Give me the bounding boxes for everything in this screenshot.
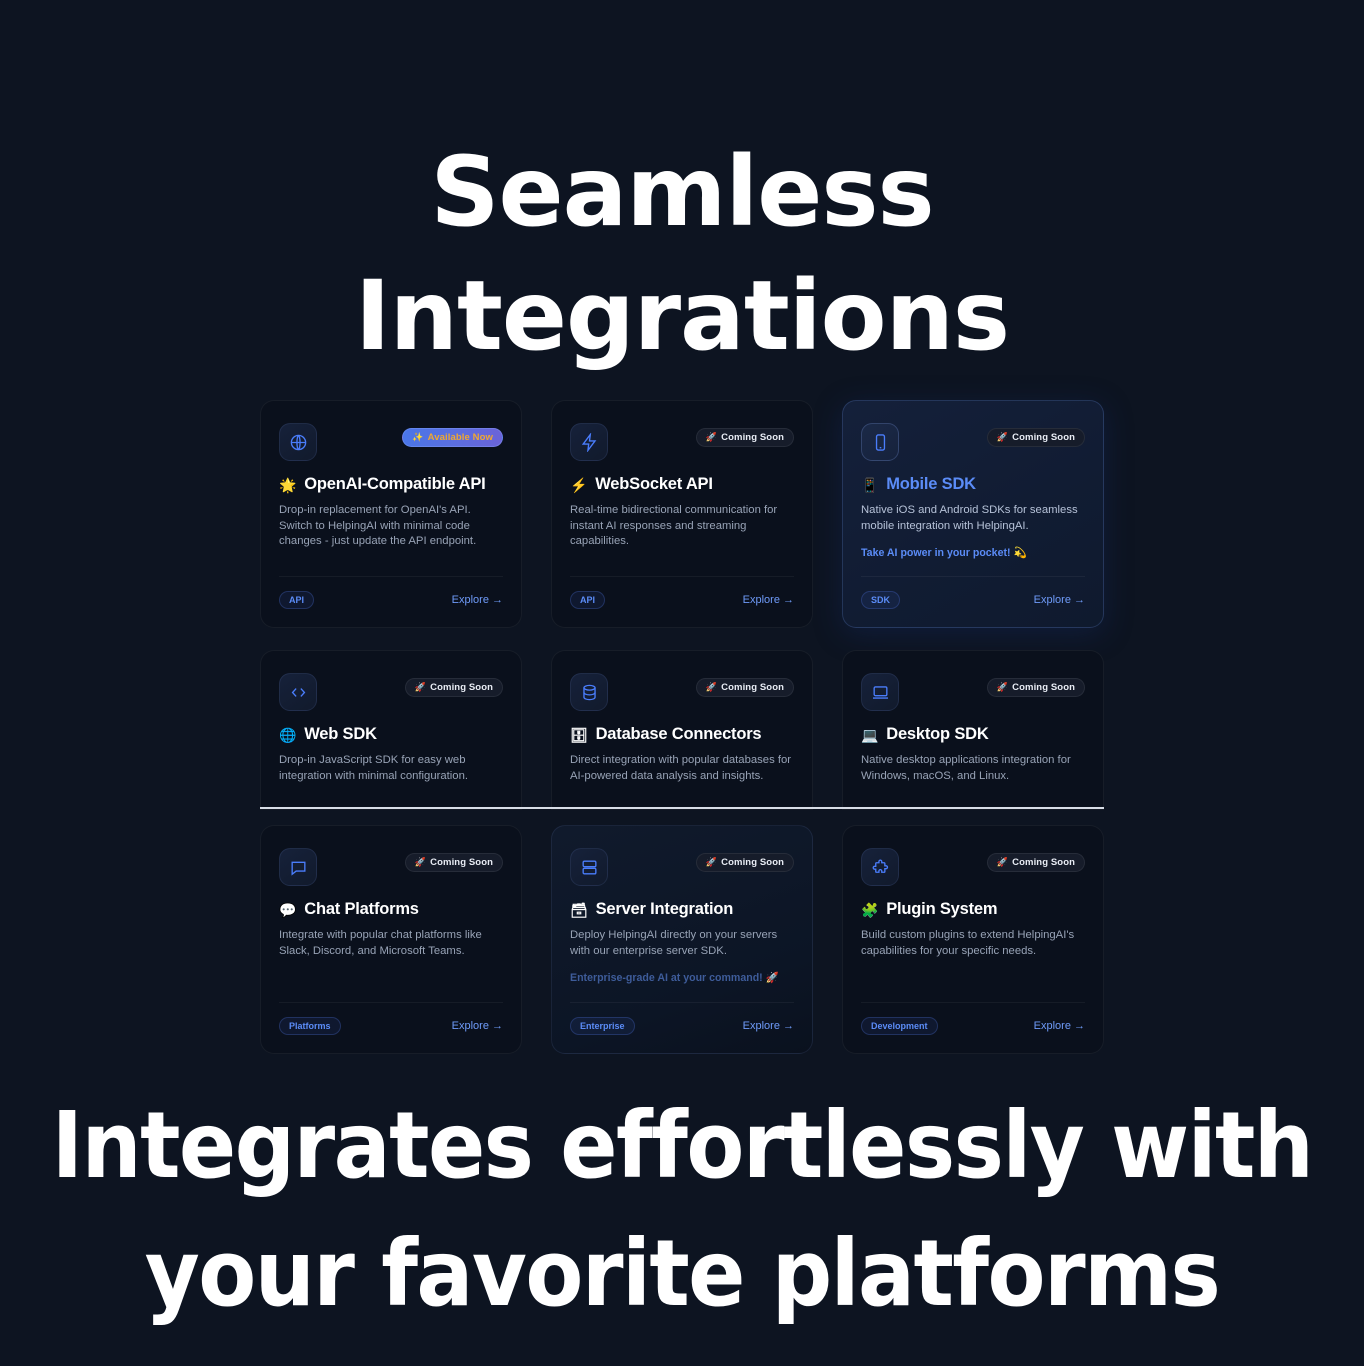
card-title: 💬 Chat Platforms [279,900,503,919]
card-header: 🚀 Coming Soon [570,848,794,892]
rocket-icon: 🚀 [415,858,426,867]
status-badge-label: Coming Soon [1012,682,1075,693]
status-badge-label: Coming Soon [430,682,493,693]
status-badge-coming-soon: 🚀 Coming Soon [987,853,1085,872]
puzzle-piece-icon [861,848,899,886]
status-badge-label: Coming Soon [430,857,493,868]
card-title-text: Plugin System [886,900,997,919]
category-pill: Platforms [279,1017,341,1035]
status-badge-label: Coming Soon [1012,432,1075,443]
status-badge-coming-soon: 🚀 Coming Soon [405,853,503,872]
card-description: Direct integration with popular database… [570,753,794,784]
card-description: Build custom plugins to extend HelpingAI… [861,928,1085,959]
globe-title-icon: 🌐 [279,728,296,742]
card-header: 🚀 Coming Soon [570,423,794,467]
category-pill: Development [861,1017,938,1035]
mobile-phone-icon [861,423,899,461]
integration-card-desktop-sdk[interactable]: 🚀 Coming Soon 💻 Desktop SDK Native deskt… [842,650,1104,810]
laptop-title-icon: 💻 [861,728,878,742]
status-badge-coming-soon: 🚀 Coming Soon [696,853,794,872]
mobile-title-icon: 📱 [861,478,878,492]
rocket-icon: 🚀 [706,858,717,867]
card-title-text: Server Integration [596,900,734,919]
status-badge-available-now: ✨ Available Now [402,428,503,447]
card-row-1: ✨ Available Now 🌟 OpenAI-Compatible API … [260,400,1104,628]
card-footer: SDK Explore → [861,576,1085,609]
card-title: 🧩 Plugin System [861,900,1085,919]
card-footer: Development Explore → [861,1002,1085,1035]
rocket-icon: 🚀 [997,858,1008,867]
database-title-icon: 🗄 [570,728,588,742]
card-header: 🚀 Coming Soon [861,848,1085,892]
card-title: 🗃 Server Integration [570,900,794,919]
category-pill: SDK [861,591,900,609]
card-description: Native desktop applications integration … [861,753,1085,784]
bottom-tagline: Integrates effortlessly with your favori… [0,1082,1364,1338]
status-badge-coming-soon: 🚀 Coming Soon [696,428,794,447]
card-tagline: Take AI power in your pocket! 💫 [861,546,1085,559]
explore-link[interactable]: Explore → [1034,1020,1085,1032]
rocket-icon: 🚀 [997,683,1008,692]
page-title-line-2: Integrations [0,254,1364,378]
speech-balloon-title-icon: 💬 [279,903,296,917]
page-title: Seamless Integrations [0,130,1364,378]
card-header: 🚀 Coming Soon [570,673,794,717]
status-badge-coming-soon: 🚀 Coming Soon [987,428,1085,447]
card-title: 🌟 OpenAI-Compatible API [279,475,503,494]
card-title: 🌐 Web SDK [279,725,503,744]
rocket-icon: 🚀 [997,433,1008,442]
explore-link[interactable]: Explore → [452,1020,503,1032]
section-divider [260,807,1104,809]
card-title: 💻 Desktop SDK [861,725,1085,744]
integration-card-grid: ✨ Available Now 🌟 OpenAI-Compatible API … [260,400,1104,1054]
card-footer: Enterprise Explore → [570,1002,794,1035]
status-badge-label: Coming Soon [721,682,784,693]
card-description: Integrate with popular chat platforms li… [279,928,503,959]
code-brackets-icon [279,673,317,711]
explore-link[interactable]: Explore → [743,594,794,606]
card-title-text: Desktop SDK [886,725,988,744]
file-box-title-icon: 🗃 [570,903,588,917]
card-title: 📱 Mobile SDK [861,475,1085,494]
card-title-text: WebSocket API [595,475,713,494]
database-icon [570,673,608,711]
card-footer: API Explore → [570,576,794,609]
card-description: Deploy HelpingAI directly on your server… [570,928,794,959]
category-pill: Enterprise [570,1017,635,1035]
card-title-text: Database Connectors [596,725,762,744]
integration-card-mobile-sdk[interactable]: 🚀 Coming Soon 📱 Mobile SDK Native iOS an… [842,400,1104,628]
card-title-text: OpenAI-Compatible API [304,475,485,494]
chat-bubble-icon [279,848,317,886]
sparkle-title-icon: 🌟 [279,478,296,492]
category-pill: API [570,591,605,609]
rocket-icon: 🚀 [706,683,717,692]
sparkle-icon: ✨ [412,433,423,442]
puzzle-title-icon: 🧩 [861,903,878,917]
status-badge-label: Coming Soon [721,432,784,443]
card-footer: API Explore → [279,576,503,609]
bottom-tagline-line-1: Integrates effortlessly with [52,1092,1313,1199]
card-title: ⚡ WebSocket API [570,475,794,494]
integration-card-server-integration[interactable]: 🚀 Coming Soon 🗃 Server Integration Deplo… [551,825,813,1054]
status-badge-label: Coming Soon [721,857,784,868]
card-description: Real-time bidirectional communication fo… [570,503,794,550]
category-pill: API [279,591,314,609]
integrations-page: Seamless Integrations ✨ Available Now 🌟 [0,0,1364,1366]
card-header: 🚀 Coming Soon [279,848,503,892]
rocket-icon: 🚀 [706,433,717,442]
integration-card-websocket-api[interactable]: 🚀 Coming Soon ⚡ WebSocket API Real-time … [551,400,813,628]
explore-link[interactable]: Explore → [452,594,503,606]
laptop-icon [861,673,899,711]
card-title: 🗄 Database Connectors [570,725,794,744]
card-description: Native iOS and Android SDKs for seamless… [861,503,1085,534]
globe-icon [279,423,317,461]
card-header: 🚀 Coming Soon [279,673,503,717]
page-title-line-1: Seamless [430,136,933,248]
lightning-icon [570,423,608,461]
card-description: Drop-in JavaScript SDK for easy web inte… [279,753,503,784]
status-badge-label: Coming Soon [1012,857,1075,868]
card-row-2: 🚀 Coming Soon 🌐 Web SDK Drop-in JavaScri… [260,650,1104,810]
card-title-text: Web SDK [304,725,377,744]
integration-card-openai-compatible-api[interactable]: ✨ Available Now 🌟 OpenAI-Compatible API … [260,400,522,628]
status-badge-coming-soon: 🚀 Coming Soon [696,678,794,697]
integration-card-web-sdk[interactable]: 🚀 Coming Soon 🌐 Web SDK Drop-in JavaScri… [260,650,522,810]
card-header: ✨ Available Now [279,423,503,467]
card-row-3: 🚀 Coming Soon 💬 Chat Platforms Integrate… [260,825,1104,1054]
lightning-title-icon: ⚡ [570,478,587,492]
integration-card-plugin-system[interactable]: 🚀 Coming Soon 🧩 Plugin System Build cust… [842,825,1104,1054]
status-badge-coming-soon: 🚀 Coming Soon [987,678,1085,697]
card-header: 🚀 Coming Soon [861,673,1085,717]
explore-link[interactable]: Explore → [1034,594,1085,606]
card-description: Drop-in replacement for OpenAI's API. Sw… [279,503,503,550]
rocket-icon: 🚀 [415,683,426,692]
card-title-text: Mobile SDK [886,475,976,494]
card-footer: Platforms Explore → [279,1002,503,1035]
card-tagline: Enterprise-grade AI at your command! 🚀 [570,971,794,984]
card-title-text: Chat Platforms [304,900,419,919]
bottom-tagline-line-2: your favorite platforms [0,1210,1364,1338]
status-badge-coming-soon: 🚀 Coming Soon [405,678,503,697]
server-rack-icon [570,848,608,886]
integration-card-database-connectors[interactable]: 🚀 Coming Soon 🗄 Database Connectors Dire… [551,650,813,810]
status-badge-label: Available Now [428,432,493,443]
integration-card-chat-platforms[interactable]: 🚀 Coming Soon 💬 Chat Platforms Integrate… [260,825,522,1054]
explore-link[interactable]: Explore → [743,1020,794,1032]
card-header: 🚀 Coming Soon [861,423,1085,467]
